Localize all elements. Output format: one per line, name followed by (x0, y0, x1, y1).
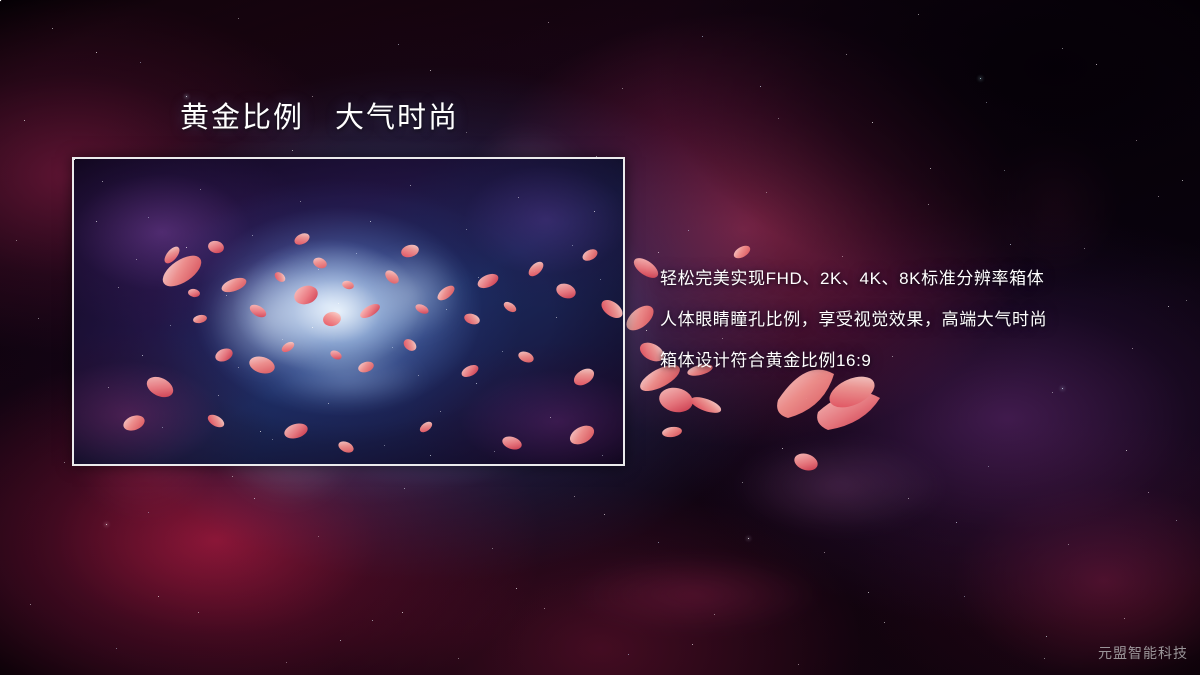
body-text-block: 轻松完美实现FHD、2K、4K、8K标准分辨率箱体 人体眼睛瞳孔比例，享受视觉效… (660, 258, 1190, 381)
body-line-1: 轻松完美实现FHD、2K、4K、8K标准分辨率箱体 (660, 258, 1190, 299)
slide-canvas: 黄金比例 大气时尚 (0, 0, 1200, 675)
watermark-label: 元盟智能科技 (1098, 643, 1188, 663)
framed-image-panel (72, 157, 625, 466)
body-line-3: 箱体设计符合黄金比例16:9 (660, 340, 1190, 381)
body-line-2: 人体眼睛瞳孔比例，享受视觉效果，高端大气时尚 (660, 299, 1190, 340)
panel-petals (74, 159, 625, 466)
slide-title: 黄金比例 大气时尚 (180, 100, 459, 136)
